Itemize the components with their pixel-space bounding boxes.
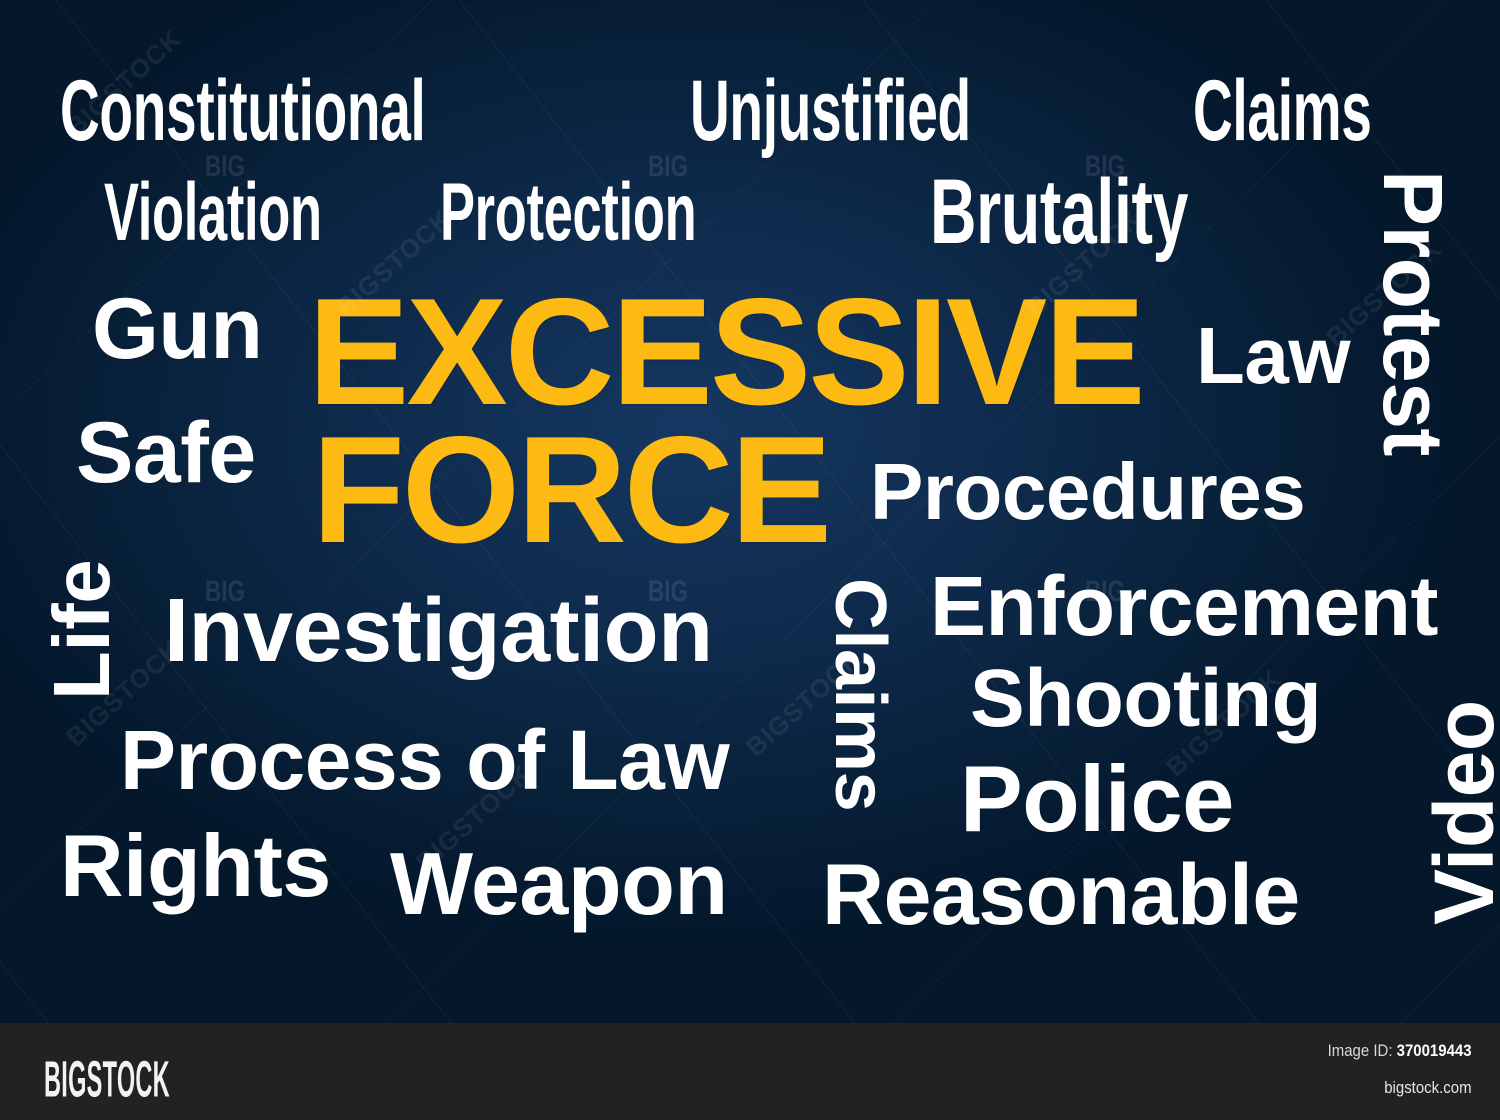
image-metadata: Image ID: 370019443 bigstock.com: [1328, 1037, 1472, 1101]
cloud-word-violation: Violation: [104, 172, 322, 254]
footer-bar: BIGSTOCK Image ID: 370019443 bigstock.co…: [0, 1023, 1500, 1120]
cloud-word-rights: Rights: [60, 822, 331, 910]
cloud-word-shooting: Shooting: [970, 658, 1321, 740]
cloud-word-brutality: Brutality: [930, 166, 1188, 258]
cloud-word-weapon: Weapon: [390, 840, 728, 928]
cloud-word-protest: Protest: [1371, 170, 1455, 456]
cloud-word-safe: Safe: [76, 410, 256, 496]
cloud-word-police: Police: [960, 752, 1234, 846]
cloud-word-procedures: Procedures: [870, 452, 1305, 532]
cloud-word-reasonable: Reasonable: [822, 852, 1300, 938]
cloud-word-law: Law: [1196, 316, 1350, 396]
cloud-word-gun: Gun: [92, 286, 262, 372]
cloud-word-constitutional: Constitutional: [60, 68, 425, 154]
word-cloud-image: BIG BIG BIG BIG BIG BIG BIGSTOCK BIGSTOC…: [0, 0, 1500, 1120]
image-id-label: Image ID:: [1328, 1041, 1393, 1060]
cloud-word-enforcement: Enforcement: [930, 564, 1438, 648]
image-id-value: 370019443: [1397, 1041, 1472, 1060]
cloud-word-protection: Protection: [440, 172, 696, 254]
cloud-word-investigation: Investigation: [164, 586, 713, 676]
cloud-word-claims-vertical: Claims: [824, 578, 896, 811]
site-url: bigstock.com: [1328, 1074, 1472, 1101]
headline-line-2: FORCE: [312, 414, 829, 566]
cloud-word-claims-top: Claims: [1193, 68, 1372, 154]
bigstock-logo: BIGSTOCK: [44, 1050, 170, 1109]
cloud-word-life: Life: [42, 560, 122, 700]
word-cloud-canvas: BIG BIG BIG BIG BIG BIG BIGSTOCK BIGSTOC…: [0, 0, 1500, 1023]
cloud-word-unjustified: Unjustified: [690, 68, 971, 154]
cloud-word-process-of-law: Process of Law: [120, 718, 729, 802]
cloud-word-video: Video: [1422, 700, 1500, 925]
word-list: Constitutional Unjustified Claims Violat…: [0, 0, 1500, 1023]
